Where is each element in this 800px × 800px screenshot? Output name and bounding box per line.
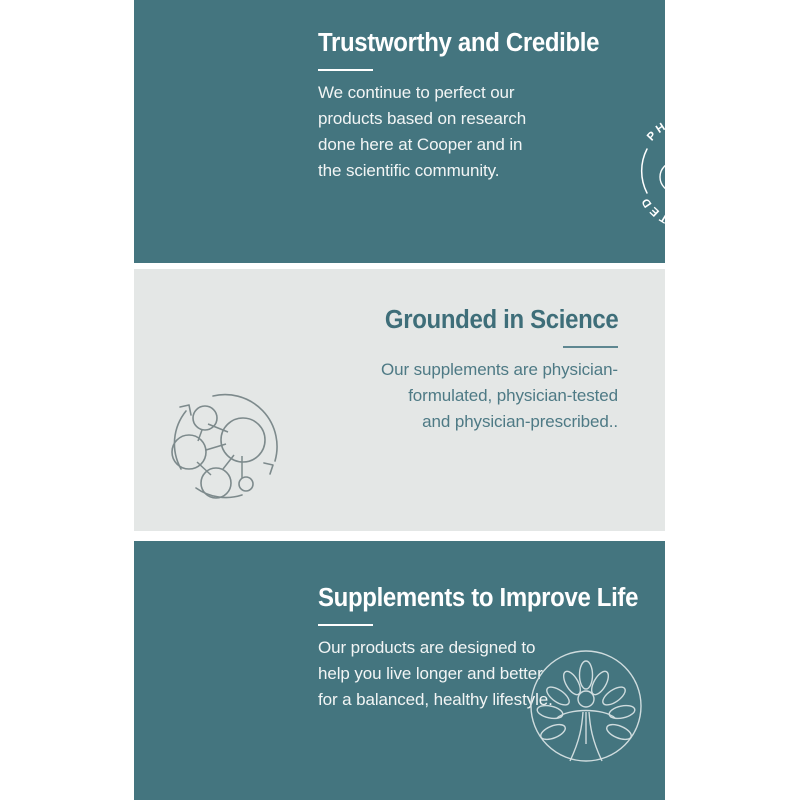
- panel-3-divider-rule: [318, 624, 373, 626]
- molecule-cycle-icon: [156, 377, 292, 507]
- panel-1-body-text: We continue to perfect our products base…: [318, 80, 617, 183]
- panel-2-text-block: Grounded in Science Our supplements are …: [370, 306, 618, 435]
- panel-trustworthy-and-credible: Trustworthy and Credible We continue to …: [134, 0, 665, 263]
- physician-formulated-badge-icon: PHYSICIAN FORMULATED: [623, 103, 665, 239]
- panel-3-heading: Supplements to Improve Life: [318, 584, 638, 613]
- panel-1-text-block: Trustworthy and Credible We continue to …: [318, 29, 617, 183]
- panel-grounded-in-science: Grounded in Science Our supplements are …: [134, 269, 665, 531]
- panel-2-heading: Grounded in Science: [384, 306, 618, 335]
- tree-of-life-icon: [524, 644, 648, 768]
- panel-supplements-to-improve-life: Supplements to Improve Life Our products…: [134, 541, 665, 800]
- badge-top-arc-text: PHYSICIAN: [645, 113, 665, 144]
- panel-2-body-text: Our supplements are physician- formulate…: [370, 357, 618, 434]
- badge-bottom-arc-text: FORMULATED: [638, 193, 665, 231]
- marketing-panels-page: Trustworthy and Credible We continue to …: [0, 0, 800, 800]
- panel-1-divider-rule: [318, 69, 373, 71]
- panel-1-heading: Trustworthy and Credible: [318, 29, 599, 58]
- panel-2-divider-rule: [563, 346, 618, 348]
